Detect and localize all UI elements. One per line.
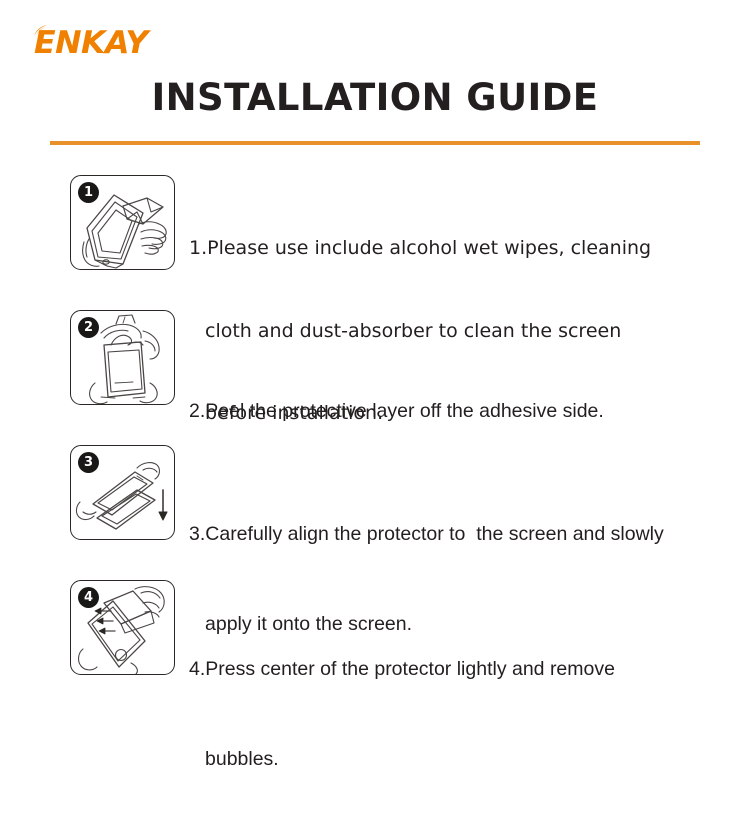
step-4-line-1: 4.Press center of the protector lightly …: [189, 654, 694, 684]
step-item: 1: [0, 175, 750, 310]
step-2-line-1: 2.Peel the protective layer off the adhe…: [189, 396, 689, 426]
step-1-number-badge: 1: [78, 182, 99, 203]
step-4-number-badge: 4: [78, 587, 99, 608]
step-4-illustration: 4: [70, 580, 175, 675]
brand-logo: ENKAY: [34, 26, 146, 60]
step-1-illustration: 1: [70, 175, 175, 270]
step-item: 2: [0, 310, 750, 445]
title-divider: [50, 141, 700, 145]
step-3-line-1: 3.Carefully align the protector to the s…: [189, 519, 709, 549]
step-3-number-badge: 3: [78, 452, 99, 473]
step-3-illustration: 3: [70, 445, 175, 540]
installation-guide-page: ENKAY INSTALLATION GUIDE 1: [0, 0, 750, 750]
steps-list: 1: [0, 175, 750, 715]
step-2-illustration: 2: [70, 310, 175, 405]
step-item: 3: [0, 445, 750, 580]
step-2-number-badge: 2: [78, 317, 99, 338]
step-4-line-2: bubbles.: [189, 744, 694, 774]
step-4-text: 4.Press center of the protector lightly …: [189, 580, 694, 834]
brand-name: ENKAY: [34, 28, 148, 59]
page-title: INSTALLATION GUIDE: [0, 76, 750, 119]
brand-mark: ENKAY: [34, 28, 146, 59]
step-1-line-1: 1.Please use include alcohol wet wipes, …: [189, 235, 659, 263]
step-item: 4: [0, 580, 750, 715]
